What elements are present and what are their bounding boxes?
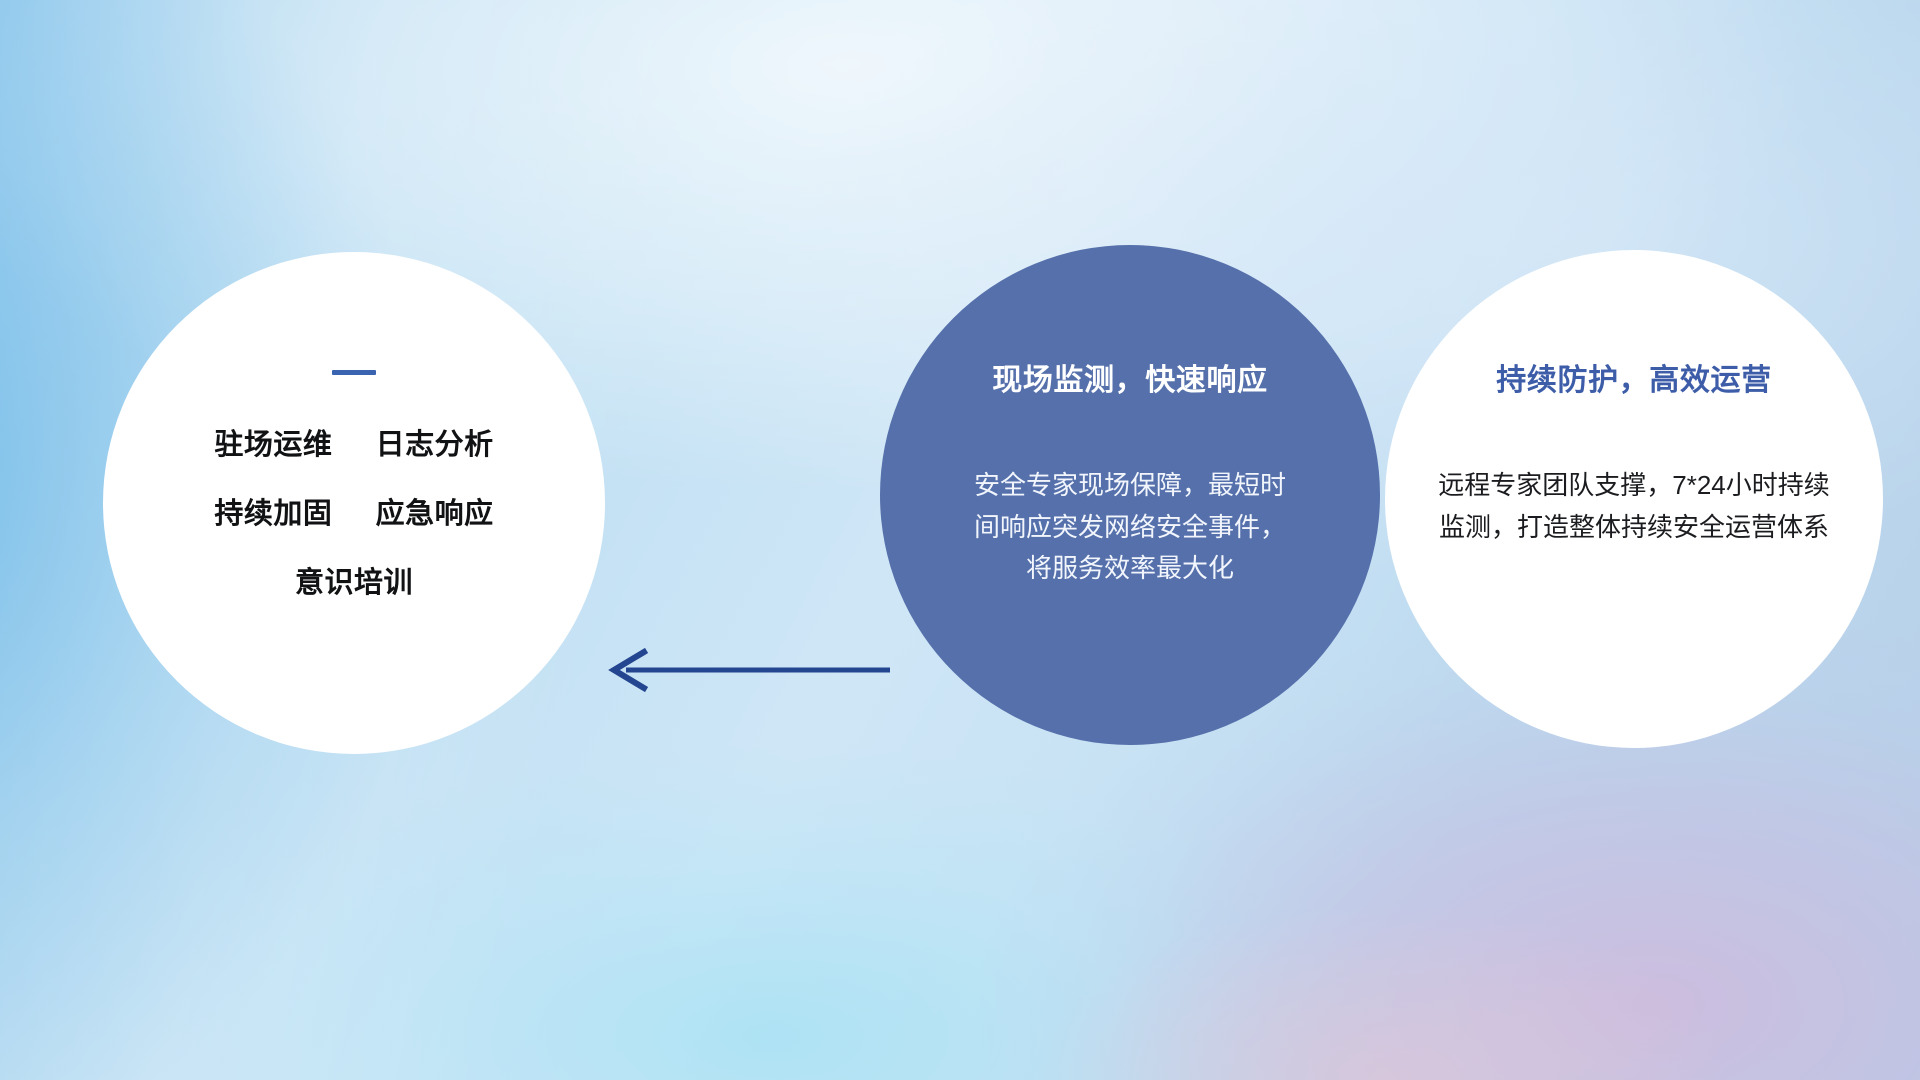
capability-row: 持续加固 应急响应 <box>103 500 605 529</box>
field-monitoring-content: 现场监测，快速响应 安全专家现场保障，最短时间响应突发网络安全事件，将服务效率最… <box>880 355 1380 590</box>
field-monitoring-title: 现场监测，快速响应 <box>880 355 1380 399</box>
capability-row: 意识培训 <box>103 569 605 598</box>
capability-label: 应急响应 <box>376 498 494 530</box>
capability-label: 日志分析 <box>376 429 494 461</box>
continuous-protection-title: 持续防护，高效运营 <box>1385 355 1883 399</box>
continuous-protection-body: 远程专家团队支撑，7*24小时持续监测，打造整体持续安全运营体系 <box>1432 465 1836 548</box>
onsite-support-content: 驻场运维 日志分析 持续加固 应急响应 意识培训 <box>103 370 605 598</box>
capability-label: 意识培训 <box>295 567 413 599</box>
arrow-icon <box>600 630 890 710</box>
slide-canvas: 驻场运维 日志分析 持续加固 应急响应 意识培训 现场监测，快速响应 安全专家现… <box>0 0 1920 1080</box>
capability-row: 驻场运维 日志分析 <box>103 431 605 460</box>
leftward-flow-arrow <box>600 630 890 710</box>
accent-dash-icon <box>332 370 376 375</box>
continuous-protection-content: 持续防护，高效运营 远程专家团队支撑，7*24小时持续监测，打造整体持续安全运营… <box>1385 355 1883 548</box>
capability-label: 持续加固 <box>214 498 332 530</box>
field-monitoring-body: 安全专家现场保障，最短时间响应突发网络安全事件，将服务效率最大化 <box>965 465 1295 590</box>
capability-label: 驻场运维 <box>214 429 332 461</box>
